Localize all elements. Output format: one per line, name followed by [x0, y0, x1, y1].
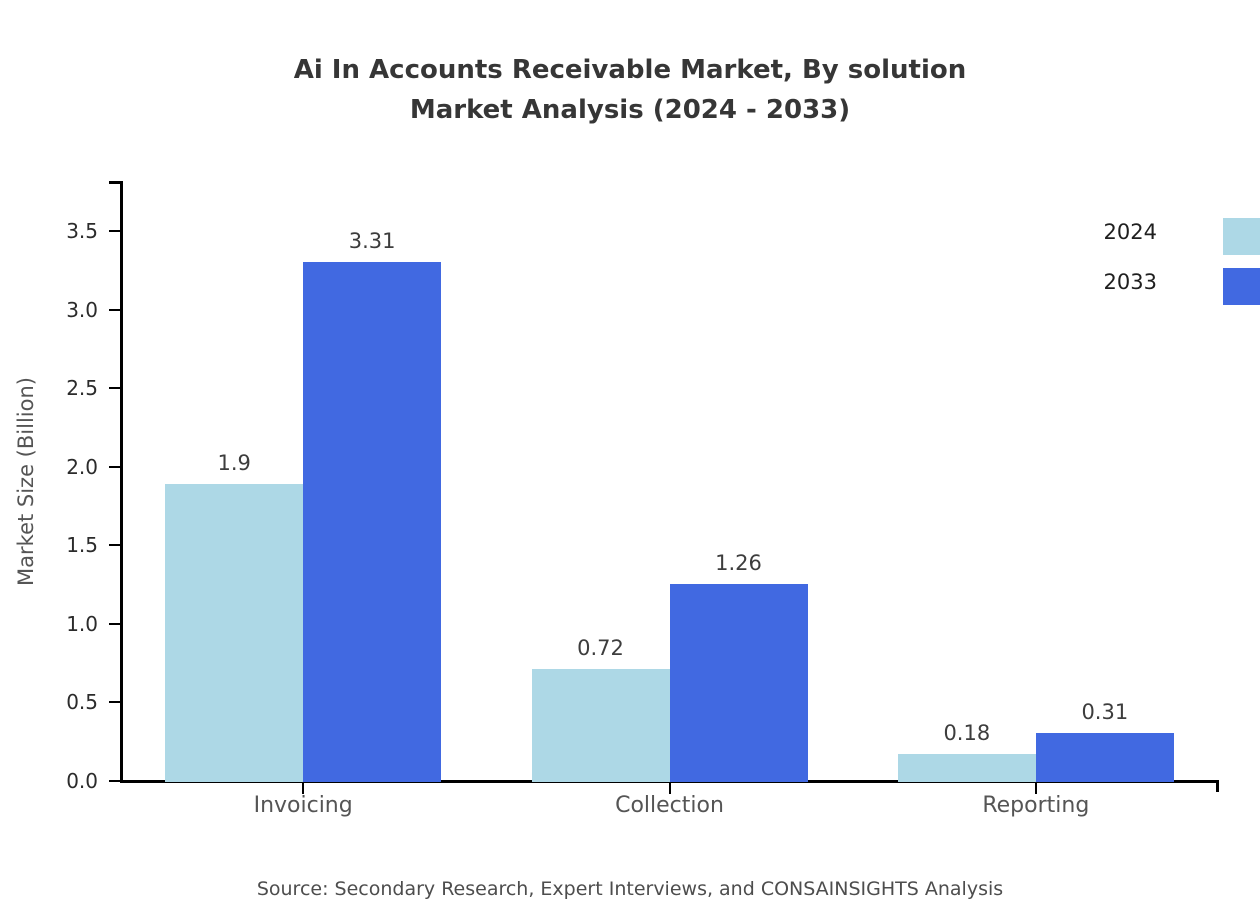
- y-tick-label: 0.5: [0, 690, 98, 714]
- chart-title: Ai In Accounts Receivable Market, By sol…: [0, 50, 1260, 130]
- y-tick-label: 2.5: [0, 376, 98, 400]
- y-tick-label: 0.0: [0, 769, 98, 793]
- legend-item-2024[interactable]: 2024: [1120, 218, 1260, 262]
- y-tick-mark: [109, 780, 120, 782]
- legend-label-2033: 2033: [1104, 270, 1157, 294]
- chart-title-line-1: Ai In Accounts Receivable Market, By sol…: [0, 50, 1260, 90]
- y-tick-mark: [109, 466, 120, 468]
- y-axis-top-cap: [109, 181, 120, 184]
- y-tick-mark: [109, 309, 120, 311]
- legend-swatch-2033: [1223, 268, 1260, 305]
- legend-item-2033[interactable]: 2033: [1120, 268, 1260, 312]
- legend-label-2024: 2024: [1104, 220, 1157, 244]
- bar-value-label: 1.26: [639, 551, 839, 575]
- bar-collection-2033[interactable]: [670, 584, 808, 782]
- y-tick-mark: [109, 544, 120, 546]
- bar-value-label: 3.31: [272, 229, 472, 253]
- bar-reporting-2033[interactable]: [1036, 733, 1174, 782]
- chart-title-line-2: Market Analysis (2024 - 2033): [0, 90, 1260, 130]
- y-tick-label: 2.0: [0, 455, 98, 479]
- y-tick-mark: [109, 387, 120, 389]
- y-tick-label: 1.0: [0, 612, 98, 636]
- legend-swatch-2024: [1223, 218, 1260, 255]
- chart-legend: 2024 2033: [1120, 218, 1260, 318]
- x-tick-label-reporting: Reporting: [886, 793, 1186, 818]
- chart-figure: Ai In Accounts Receivable Market, By sol…: [0, 0, 1260, 920]
- plot-area: 1.93.310.721.260.180.31: [120, 181, 1219, 782]
- y-tick-mark: [109, 623, 120, 625]
- source-footnote: Source: Secondary Research, Expert Inter…: [0, 878, 1260, 900]
- y-tick-label: 3.0: [0, 298, 98, 322]
- y-tick-label: 3.5: [0, 219, 98, 243]
- bar-invoicing-2033[interactable]: [303, 262, 441, 782]
- y-tick-label: 1.5: [0, 533, 98, 557]
- bar-value-label: 0.31: [1005, 700, 1205, 724]
- x-tick-label-invoicing: Invoicing: [153, 793, 453, 818]
- bar-invoicing-2024[interactable]: [165, 484, 303, 782]
- x-tick-label-collection: Collection: [520, 793, 820, 818]
- y-tick-mark: [109, 701, 120, 703]
- bar-reporting-2024[interactable]: [898, 754, 1036, 782]
- y-tick-mark: [109, 230, 120, 232]
- bar-collection-2024[interactable]: [532, 669, 670, 782]
